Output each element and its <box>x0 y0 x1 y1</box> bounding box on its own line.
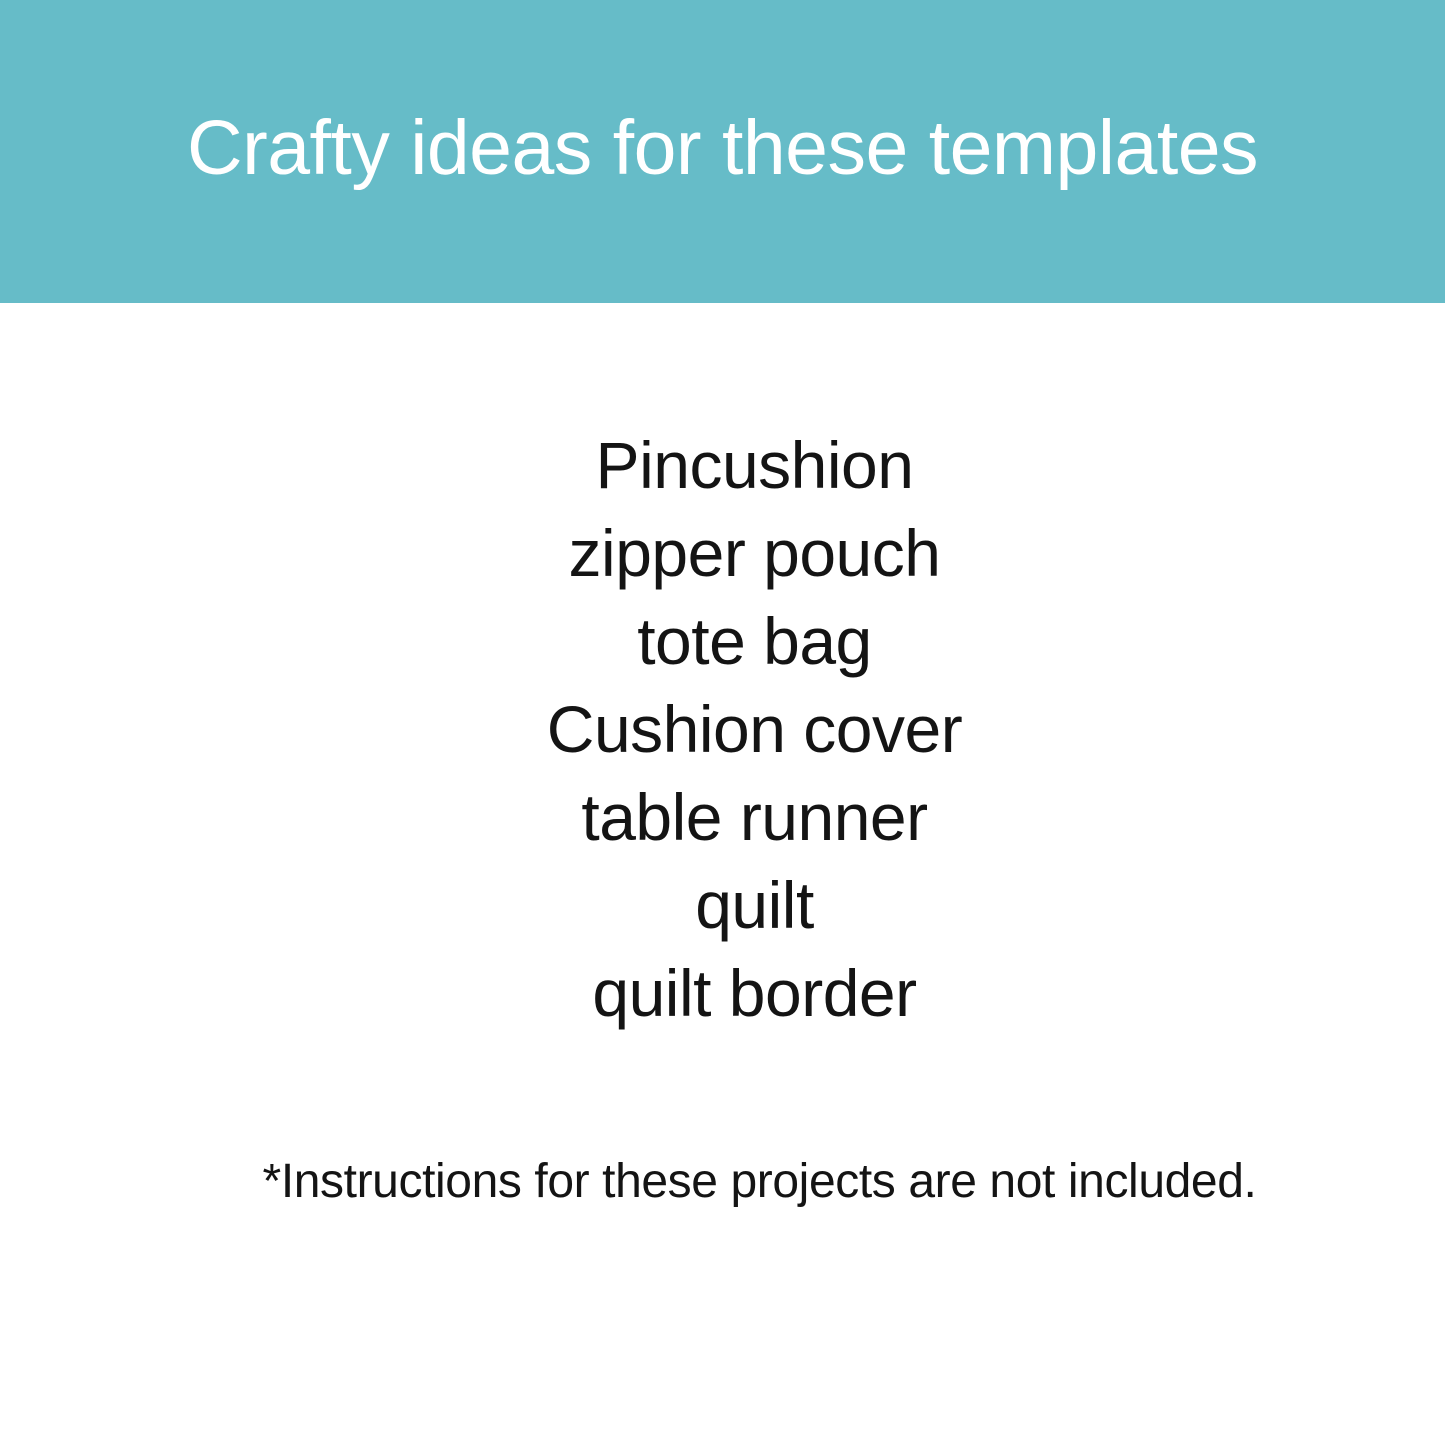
list-item: quilt <box>32 861 1445 949</box>
main-content: Pincushion zipper pouch tote bag Cushion… <box>0 303 1445 1445</box>
list-item: zipper pouch <box>32 509 1445 597</box>
disclaimer-footnote: *Instructions for these projects are not… <box>37 1152 1445 1212</box>
list-item: table runner <box>32 773 1445 861</box>
promo-graphic: Crafty ideas for these templates Pincush… <box>0 0 1445 1445</box>
page-title: Crafty ideas for these templates <box>0 103 1445 193</box>
header-band: Crafty ideas for these templates <box>0 0 1445 303</box>
craft-ideas-list: Pincushion zipper pouch tote bag Cushion… <box>32 421 1445 1037</box>
list-item: quilt border <box>32 949 1445 1037</box>
list-item: tote bag <box>32 597 1445 685</box>
list-item: Cushion cover <box>32 685 1445 773</box>
list-item: Pincushion <box>32 421 1445 509</box>
